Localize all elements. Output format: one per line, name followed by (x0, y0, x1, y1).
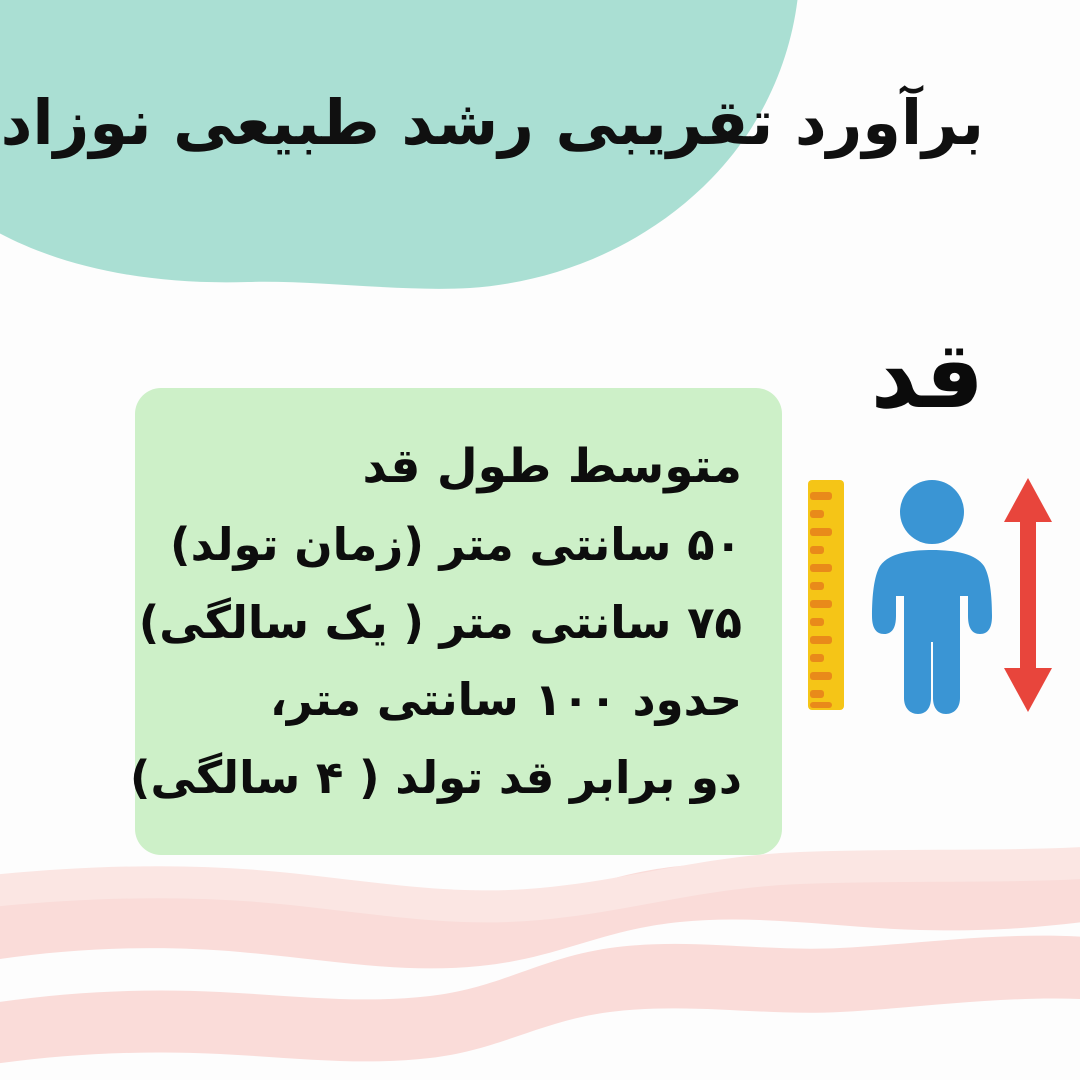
info-line-one-year: ۷۵ سانتی متر ( یک سالگی) (165, 597, 742, 649)
section-heading-height: قد (871, 330, 984, 422)
ruler-icon (808, 480, 844, 710)
pink-wave-lower (0, 864, 1080, 969)
person-figure-icon (872, 480, 992, 714)
height-icon-cluster (800, 470, 1060, 720)
pink-wave-accent (0, 846, 1080, 922)
pink-wave-upper (0, 936, 1080, 1066)
info-line-four-year-secondary: دو برابر قد تولد ( ۴ سالگی) (165, 752, 742, 804)
page-title: برآورد تقریبی رشد طبیعی نوزاد (104, 86, 984, 159)
info-line-birth: ۵۰ سانتی متر (زمان تولد) (165, 519, 742, 571)
infographic-canvas: برآورد تقریبی رشد طبیعی نوزاد قد (0, 0, 1080, 1080)
height-double-arrow-icon (1004, 478, 1052, 712)
info-card: متوسط طول قد ۵۰ سانتی متر (زمان تولد) ۷۵… (135, 388, 782, 855)
info-card-heading: متوسط طول قد (165, 440, 742, 494)
info-line-four-year-primary: حدود ۱۰۰ سانتی متر، (165, 674, 742, 726)
